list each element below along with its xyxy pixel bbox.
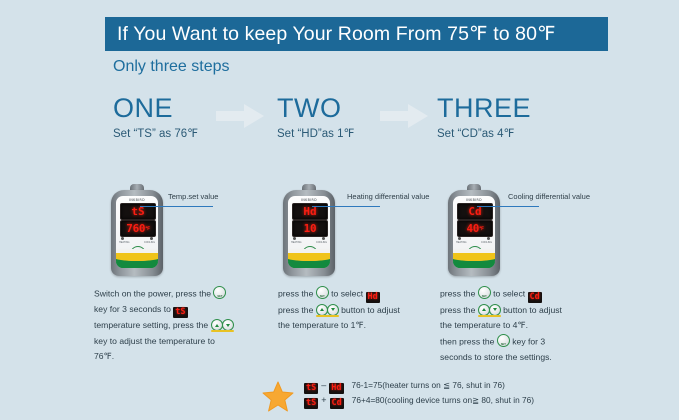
step-three-word: THREE [437,93,531,124]
formula-chip-cd: Cd [330,398,344,409]
instruction-line: the temperature to 4℉. [440,318,618,334]
formula-chip-hd: Hd [329,383,343,394]
lcd-bottom-display: 10 [292,220,328,237]
arrow-right-icon [380,104,428,128]
instruction-line: press the to select Hd [278,286,438,303]
device-status-leds: HEATING COOLING [291,237,327,245]
device-base-edge [288,262,330,268]
formula-row-cooling: tS+Cd76+4=80(cooling device turns on≧ 80… [304,395,534,409]
step-one-sub: Set “TS” as 76℉ [113,126,198,140]
lcd-chip: Hd [366,292,380,303]
callout-label: Cooling differential value [508,192,590,201]
formula-operator: + [318,395,329,405]
step-two-sub: Set “HD”as 1℉ [277,126,354,140]
instruction-line: the temperature to 1℉. [278,318,438,334]
instruction-line: seconds to store the settings. [440,350,618,366]
instruction-line: press the to select Cd [440,286,618,303]
callout-line [477,206,539,207]
callout-label: Heating differential value [347,192,429,201]
device-brand: INKBIRD [116,198,158,202]
instruction-line: press the button to adjust [278,303,438,319]
set-key-icon [478,286,491,299]
callout-label: Temp.set value [168,192,218,201]
cooling-led-icon [487,237,490,240]
instruction-line: temperature setting, press the [94,318,269,334]
device-status-leds: HEATING COOLING [119,237,155,245]
updown-keys-icon [316,304,339,316]
instructions-step-three: press the to select Cdpress the button t… [440,286,618,365]
instruction-line: Switch on the power, press the [94,286,269,302]
lcd-bottom-display: 40℉ [457,220,493,237]
instruction-line: 76℉. [94,349,269,365]
step-two-word: TWO [277,93,341,124]
set-key-icon [316,286,329,299]
instruction-line: then press the key for 3 [440,334,618,350]
instruction-line: key for 3 seconds to tS [94,302,269,318]
page-title: If You Want to keep Your Room From 75℉ t… [105,17,608,51]
device-base-edge [453,262,495,268]
updown-keys-icon [478,304,501,316]
infographic-canvas: If You Want to keep Your Room From 75℉ t… [0,0,679,420]
heating-led-label: HEATING [291,241,301,244]
step-three-sub: Set “CD”as 4℉ [437,126,514,140]
lcd-chip: tS [173,307,187,318]
formula-chip-ts: tS [304,398,318,409]
cooling-led-label: COOLING [144,241,155,244]
updown-keys-icon [211,319,234,331]
star-icon [262,381,294,413]
thermostat-device-three: INKBIRD Cd 40℉ HEATING COOLING SET [448,184,500,276]
lcd-bottom-display: 760℉ [120,220,156,237]
device-base-edge [116,262,158,268]
heating-led-icon [121,237,124,240]
formula-operator: – [318,380,329,390]
formula-explanation: 76-1=75(heater turns on ≦ 76, shut in 76… [352,380,505,390]
callout-line [312,206,380,207]
lcd-bottom-value: 40℉ [458,221,492,236]
device-status-leds: HEATING COOLING [456,237,492,245]
page-subtitle: Only three steps [113,58,230,76]
cooling-led-icon [322,237,325,240]
set-key-icon [497,334,510,347]
lcd-bottom-value: 760℉ [121,221,155,236]
instructions-step-two: press the to select Hdpress the button t… [278,286,438,334]
cooling-led-icon [150,237,153,240]
cooling-led-label: COOLING [316,241,327,244]
arrow-right-icon [216,104,264,128]
thermostat-device-one: INKBIRD tS 760℉ HEATING COOLING SET [111,184,163,276]
heating-led-icon [458,237,461,240]
instructions-step-one: Switch on the power, press the key for 3… [94,286,269,365]
set-key-icon [213,286,226,299]
footer-formulas: tS–Hd76-1=75(heater turns on ≦ 76, shut … [262,378,662,418]
instruction-line: key to adjust the temperature to [94,334,269,350]
heating-led-label: HEATING [119,241,129,244]
cooling-led-label: COOLING [481,241,492,244]
device-brand: INKBIRD [288,198,330,202]
device-brand: INKBIRD [453,198,495,202]
formula-row-heating: tS–Hd76-1=75(heater turns on ≦ 76, shut … [304,380,505,394]
lcd-bottom-value: 10 [293,221,327,236]
lcd-chip: Cd [528,292,542,303]
step-one-word: ONE [113,93,173,124]
instruction-line: press the button to adjust [440,303,618,319]
heating-led-icon [293,237,296,240]
formula-explanation: 76+4=80(cooling device turns on≧ 80, shu… [352,395,534,405]
heating-led-label: HEATING [456,241,466,244]
formula-chip-ts: tS [304,383,318,394]
thermostat-device-two: INKBIRD Hd 10 HEATING COOLING SET [283,184,335,276]
callout-line [140,206,213,207]
